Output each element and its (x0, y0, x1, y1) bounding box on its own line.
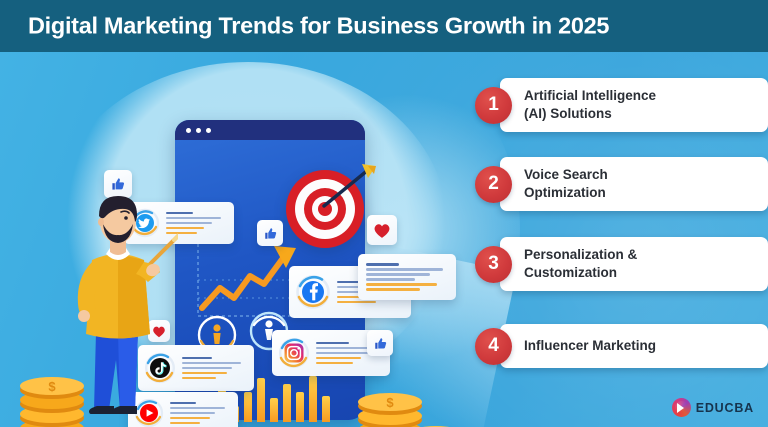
growth-arrow-chart (186, 240, 306, 330)
coins-right: $ $ (348, 370, 466, 427)
trend-row-4[interactable]: 4 Influencer Marketing (470, 324, 768, 368)
trend-badge-2: 2 (475, 166, 512, 203)
instagram-icon (278, 337, 310, 369)
bar-9 (309, 376, 317, 422)
trend-label-1: Artificial Intelligence (AI) Solutions (524, 87, 656, 123)
trend-card-1[interactable]: Artificial Intelligence (AI) Solutions (500, 78, 768, 132)
bar-7 (283, 384, 291, 422)
bar-10 (322, 396, 330, 422)
heart-icon (373, 222, 391, 239)
thumbs-up-icon (373, 336, 388, 351)
window-dot-2 (196, 128, 201, 133)
thumbs-up-icon (263, 226, 278, 241)
thumbs-up-card-3 (367, 330, 393, 356)
trend-label-2-line1: Voice Search (524, 167, 608, 182)
trend-label-3: Personalization & Customization (524, 246, 637, 282)
trend-label-3-line2: Customization (524, 265, 617, 280)
bar-8 (296, 392, 304, 422)
thumbs-up-card-2 (257, 220, 283, 246)
trend-label-3-line1: Personalization & (524, 247, 637, 262)
illustration: $ $ (0, 52, 470, 427)
infographic-canvas: Digital Marketing Trends for Business Gr… (0, 0, 768, 427)
bar-4 (244, 392, 252, 422)
trend-badge-4: 4 (475, 328, 512, 365)
browser-window-titlebar (175, 120, 365, 140)
trend-badge-3: 3 (475, 246, 512, 283)
bar-5 (257, 378, 265, 422)
text-info-card (358, 254, 456, 300)
trend-label-2: Voice Search Optimization (524, 166, 608, 202)
educba-logo-text: EDUCBA (696, 401, 754, 415)
card-text-lines (170, 402, 232, 425)
window-dot-3 (206, 128, 211, 133)
bar-6 (270, 398, 278, 422)
page-title: Digital Marketing Trends for Business Gr… (28, 13, 609, 40)
coins-left: $ $ (6, 352, 116, 427)
trend-label-1-line1: Artificial Intelligence (524, 88, 656, 103)
trend-label-4: Influencer Marketing (524, 337, 656, 355)
trend-card-4[interactable]: Influencer Marketing (500, 324, 768, 368)
trend-label-1-line2: (AI) Solutions (524, 106, 612, 121)
thumbs-up-icon (110, 176, 126, 192)
trend-row-1[interactable]: 1 Artificial Intelligence (AI) Solutions (470, 78, 768, 132)
trend-card-3[interactable]: Personalization & Customization (500, 237, 768, 291)
coin-stack-tall: $ (358, 393, 422, 427)
trends-list: 1 Artificial Intelligence (AI) Solutions… (470, 52, 768, 427)
trend-row-2[interactable]: 2 Voice Search Optimization (470, 157, 768, 211)
card-text-lines (182, 357, 248, 380)
card-text-lines (366, 263, 448, 291)
facebook-icon (295, 274, 331, 310)
svg-text:$: $ (48, 379, 56, 394)
header-band: Digital Marketing Trends for Business Gr… (0, 0, 768, 52)
window-dot-1 (186, 128, 191, 133)
svg-text:$: $ (386, 395, 394, 410)
educba-logo[interactable]: EDUCBA (672, 398, 754, 417)
heart-card-1 (367, 215, 397, 245)
trend-badge-1: 1 (475, 87, 512, 124)
trend-row-3[interactable]: 3 Personalization & Customization (470, 237, 768, 291)
educba-logo-mark-icon (672, 398, 691, 417)
coin-stack-tall: $ (20, 377, 84, 427)
trend-card-2[interactable]: Voice Search Optimization (500, 157, 768, 211)
dart-icon (316, 162, 378, 214)
trend-label-2-line2: Optimization (524, 185, 606, 200)
